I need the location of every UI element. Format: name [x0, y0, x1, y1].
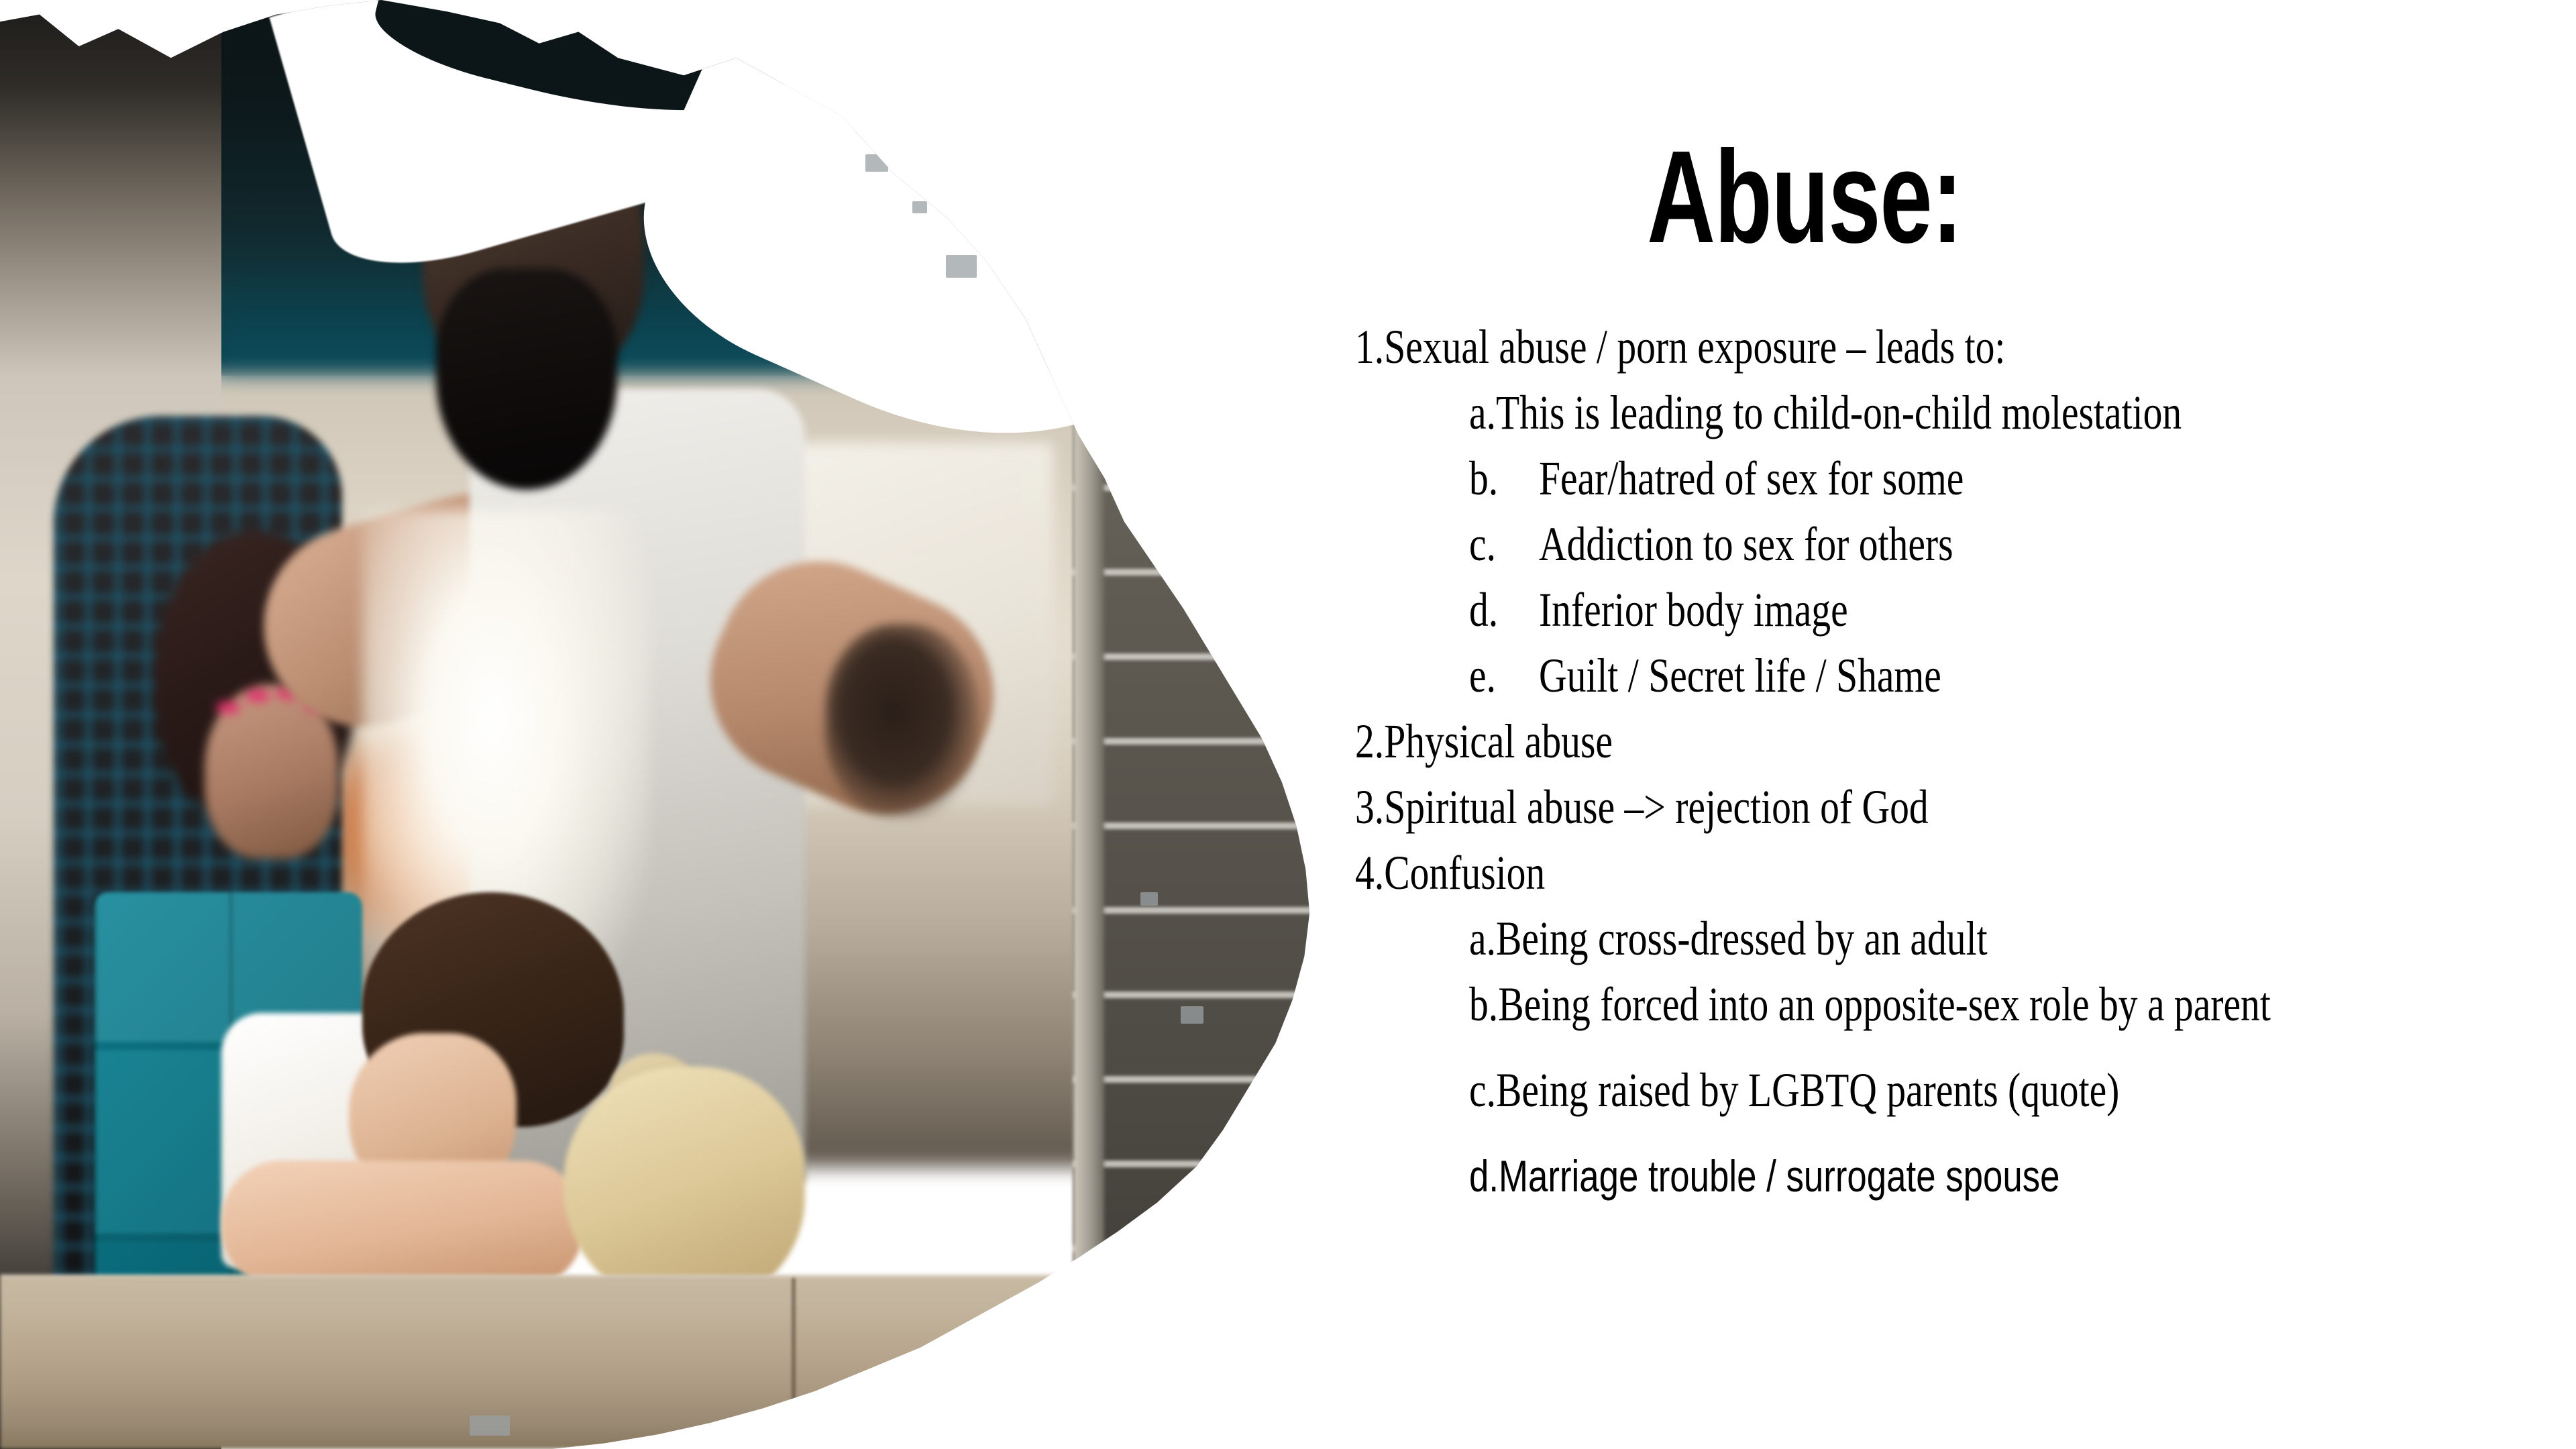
outline-item: 2.Physical abuse: [1355, 708, 2321, 774]
brush-speck: [946, 255, 977, 278]
outline-item-marker: 2.: [1355, 708, 1384, 774]
outline-item-marker: a.: [1469, 906, 1496, 971]
outline-item-marker: e.: [1469, 643, 1539, 708]
outline-item-label: Inferior body image: [1539, 577, 1848, 643]
brush-speck: [1171, 402, 1183, 423]
outline-item-label: Spiritual abuse –> rejection of God: [1384, 774, 1929, 840]
outline-item-label: Addiction to sex for others: [1539, 511, 1953, 577]
outline-item-marker: a.: [1469, 380, 1496, 445]
brush-speck: [1140, 892, 1158, 906]
outline-item-label: This is leading to child-on-child molest…: [1496, 380, 2182, 445]
slide-canvas: Abuse: 1.Sexual abuse / porn exposure – …: [0, 0, 2576, 1449]
outline-item: d.Inferior body image: [1469, 577, 2344, 643]
outline-item-label: Physical abuse: [1384, 708, 1613, 774]
outline-item-marker: 4.: [1355, 840, 1384, 906]
photo-teddy-bear: [563, 1067, 805, 1308]
outline-item-marker: c.: [1469, 511, 1539, 577]
outline-item: c.Addiction to sex for others: [1469, 511, 2344, 577]
photo-wooden-table: [0, 1275, 1181, 1449]
outline-item: a.Being cross-dressed by an adult: [1469, 906, 2344, 971]
outline-item: b.Fear/hatred of sex for some: [1469, 445, 2344, 511]
outline-list: 1.Sexual abuse / porn exposure – leads t…: [1355, 314, 2563, 1209]
outline-item-marker: d.: [1469, 577, 1539, 643]
outline-item: b.Being forced into an opposite-sex role…: [1469, 971, 2344, 1037]
outline-item: a.This is leading to child-on-child mole…: [1469, 380, 2344, 445]
photo-man-beard: [436, 268, 617, 490]
brush-speck: [865, 154, 888, 172]
outline-item: c.Being raised by LGBTQ parents (quote): [1469, 1057, 2344, 1123]
photo-brush-mask: [0, 0, 1315, 1449]
outline-item-label: Guilt / Secret life / Shame: [1539, 643, 1941, 708]
photo-table-seam: [792, 1278, 796, 1449]
photo-tattoo: [825, 624, 979, 818]
outline-item-label: Marriage trouble / surrogate spouse: [1499, 1143, 2059, 1209]
outline-item-marker: b.: [1469, 445, 1539, 511]
outline-item-label: Being forced into an opposite-sex role b…: [1498, 971, 2271, 1037]
outline-item-label: Being raised by LGBTQ parents (quote): [1496, 1057, 2119, 1123]
outline-item-marker: 3.: [1355, 774, 1384, 840]
photo-brick-edge: [1073, 315, 1104, 1362]
brush-speck: [470, 1415, 510, 1436]
photo-nail: [217, 702, 239, 714]
brush-speck: [1020, 1365, 1046, 1384]
brush-speck: [1093, 1275, 1112, 1289]
page-title: Abuse:: [1491, 131, 2118, 263]
brush-speck: [1181, 1006, 1203, 1024]
outline-item-label: Fear/hatred of sex for some: [1539, 445, 1964, 511]
outline-item-marker: d.: [1469, 1143, 1499, 1209]
outline-item: e.Guilt / Secret life / Shame: [1469, 643, 2344, 708]
brush-speck: [1134, 332, 1154, 348]
outline-item: d.Marriage trouble / surrogate spouse: [1469, 1143, 2344, 1209]
photo-brick-wall: [1073, 315, 1315, 1362]
outline-item-marker: 1.: [1355, 314, 1384, 380]
photo-nail: [246, 690, 269, 702]
brush-speck: [1077, 268, 1094, 282]
brush-speck: [1033, 201, 1046, 212]
outline-item-label: Confusion: [1384, 840, 1545, 906]
outline-item: 1.Sexual abuse / porn exposure – leads t…: [1355, 314, 2321, 380]
brush-speck: [912, 201, 927, 213]
outline-item-marker: b.: [1469, 971, 1498, 1037]
photo-boy-arms: [221, 1161, 584, 1288]
outline-item: 4.Confusion: [1355, 840, 2321, 906]
outline-item: 3.Spiritual abuse –> rejection of God: [1355, 774, 2321, 840]
outline-item-label: Being cross-dressed by an adult: [1496, 906, 1988, 971]
outline-item-label: Sexual abuse / porn exposure – leads to:: [1384, 314, 2005, 380]
photo-region: [0, 0, 1315, 1449]
outline-item-marker: c.: [1469, 1057, 1496, 1123]
